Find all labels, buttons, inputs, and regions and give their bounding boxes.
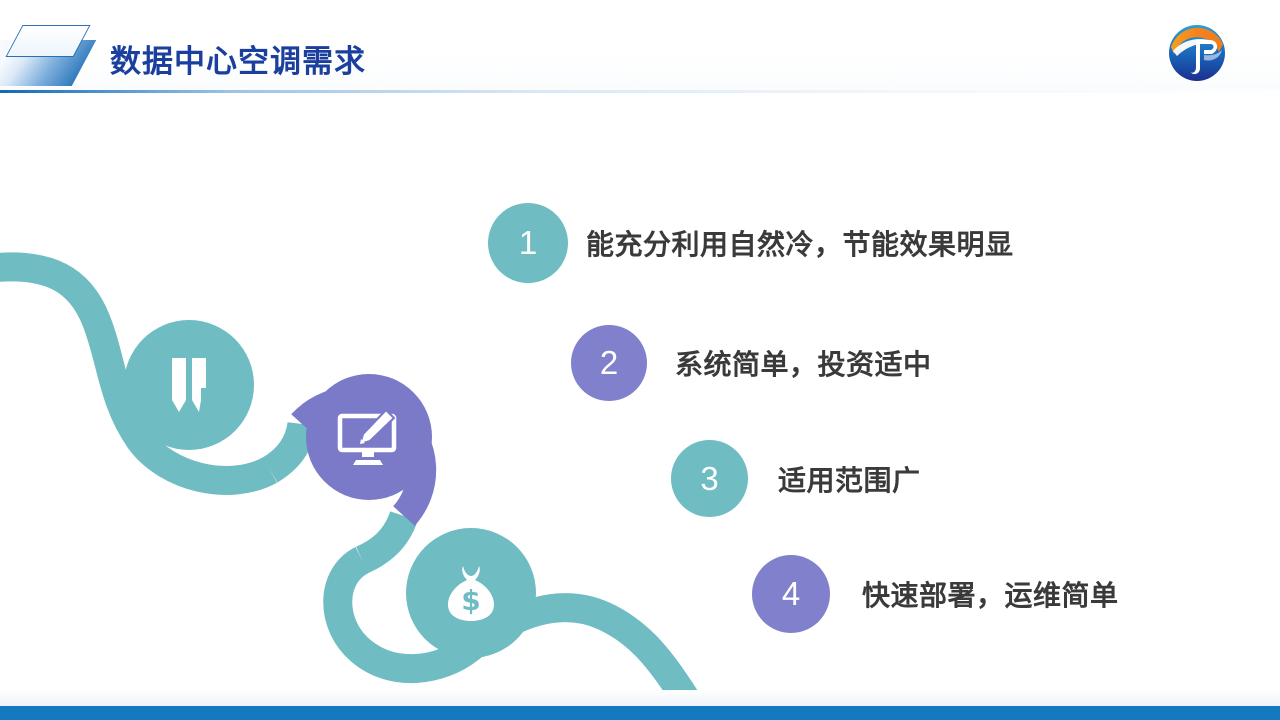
- monitor-pencil-icon: [334, 406, 404, 468]
- company-logo: [1160, 22, 1234, 84]
- pens-icon: [158, 352, 220, 418]
- bullet-number-3: 3: [700, 460, 718, 498]
- ribbon-segment-connector-b: [362, 516, 404, 560]
- money-bag-icon: $: [439, 560, 503, 626]
- svg-text:$: $: [461, 584, 480, 617]
- bullet-item-2[interactable]: 2 系统简单，投资适中: [571, 325, 932, 401]
- slide-canvas: 数据中心空调需求: [0, 0, 1280, 720]
- bullet-number-circle-4: 4: [752, 555, 830, 633]
- bullet-item-4[interactable]: 4 快速部署，运维简单: [752, 555, 1119, 633]
- bullet-number-circle-3: 3: [671, 440, 748, 517]
- bullet-item-1[interactable]: 1 能充分利用自然冷，节能效果明显: [488, 203, 1014, 283]
- footer-fade: [0, 690, 1280, 706]
- bullet-text-4: 快速部署，运维简单: [862, 574, 1119, 614]
- bullet-number-1: 1: [519, 224, 537, 262]
- decor-circle-money: $: [406, 528, 536, 658]
- bullet-number-2: 2: [600, 344, 618, 382]
- footer-bar: [0, 706, 1280, 720]
- bullet-number-circle-2: 2: [571, 325, 647, 401]
- ribbon-segment-connector-a: [270, 424, 302, 470]
- company-logo-icon: [1160, 22, 1234, 84]
- bullet-number-circle-1: 1: [488, 203, 568, 283]
- bullet-item-3[interactable]: 3 适用范围广: [671, 440, 921, 517]
- decor-circle-monitor: [306, 374, 432, 500]
- slide-header: 数据中心空调需求: [0, 0, 1280, 96]
- header-underline: [0, 90, 1280, 93]
- bullet-number-4: 4: [782, 575, 800, 613]
- bullet-text-2: 系统简单，投资适中: [675, 343, 932, 383]
- page-title: 数据中心空调需求: [110, 36, 366, 81]
- bullet-text-1: 能充分利用自然冷，节能效果明显: [586, 223, 1014, 263]
- bullet-text-3: 适用范围广: [778, 459, 921, 499]
- decor-circle-pens: [124, 320, 254, 450]
